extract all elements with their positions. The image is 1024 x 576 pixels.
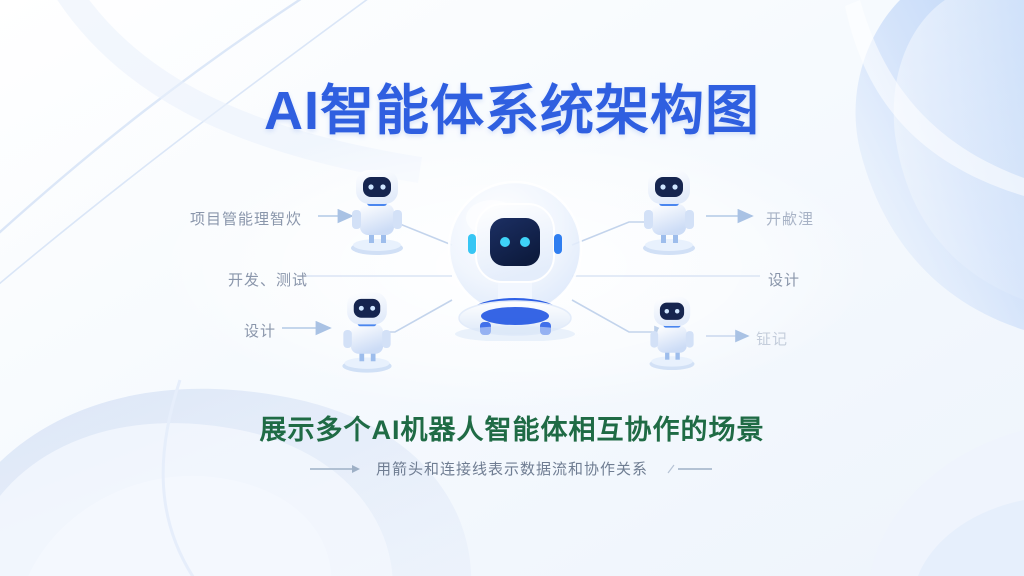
center-robot-icon [440,176,590,341]
node-robot-bottom-left-icon [332,288,402,374]
label-left-3: 设计 [244,320,276,341]
caption-line-right-icon [662,462,714,476]
footer-subtitle: 展示多个AI机器人智能体相互协作的场景 [0,408,1024,447]
footer-caption: 用箭头和连接线表示数据流和协作关系 [376,458,648,479]
node-robot-top-right-icon [632,166,706,256]
caption-arrow-left-icon [310,462,362,476]
slide-canvas: AI智能体系统架构图 [0,0,1024,576]
node-robot-bottom-right-icon [640,292,704,372]
footer-caption-row: 用箭头和连接线表示数据流和协作关系 [0,458,1024,479]
label-right-2: 设计 [768,269,800,290]
page-title: AI智能体系统架构图 [0,66,1024,145]
label-left-2: 开发、测试 [228,269,308,290]
architecture-diagram: 项目管能理智炊 开发、测试 设计 开欳浬 设计 钲记 [0,150,1024,390]
label-left-1: 项目管能理智炊 [190,208,302,229]
label-right-3: 钲记 [756,328,788,349]
label-right-1: 开欳浬 [766,208,814,229]
node-robot-top-left-icon [340,166,414,256]
